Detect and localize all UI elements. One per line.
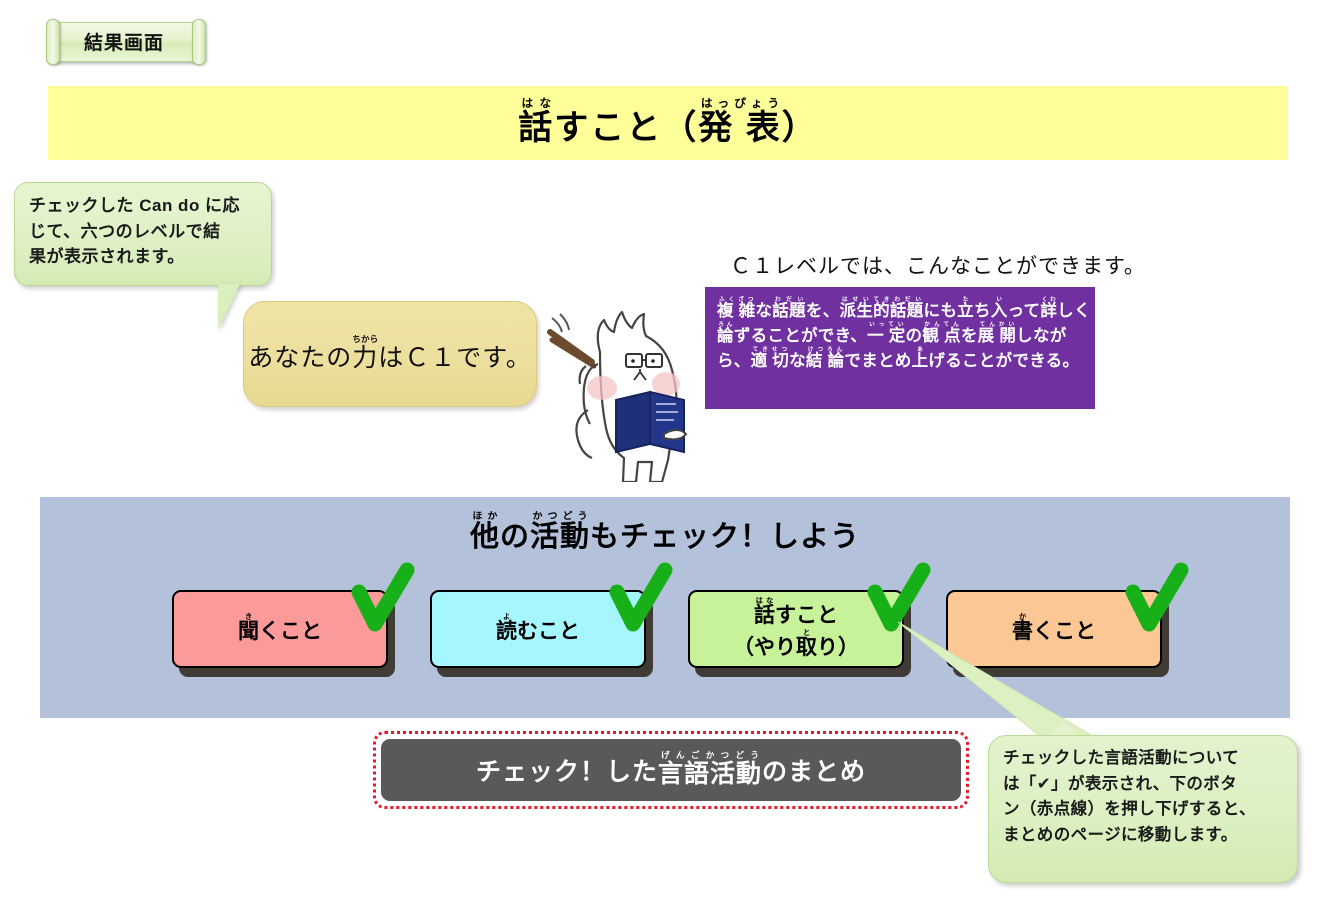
result-suffix: はＣ１です。 <box>378 344 532 372</box>
callout-line-1: チェックした Can do に応 <box>29 193 257 219</box>
cando-line-1: 複 雑ふくざつな話題わだいを、派生的話題はせいてきわだいにも立たち入いって詳くわ… <box>717 297 1083 322</box>
cando-caption: Ｃ１レベルでは、こんなことができます。 <box>730 250 1146 280</box>
cando-description-box: 複 雑ふくざつな話題わだいを、派生的話題はせいてきわだいにも立たち入いって詳くわ… <box>705 287 1095 409</box>
section-tab-result-screen: 結果画面 <box>44 22 204 62</box>
callout-br-line-1: チェックした言語活動について <box>1003 746 1283 772</box>
callout-tail-icon <box>218 284 240 330</box>
cat-blush-left-icon <box>587 376 617 400</box>
cat-blush-right-icon <box>652 372 680 396</box>
summary-suffix: のまとめ <box>762 752 866 788</box>
check-mark-icon-writing <box>1119 562 1193 642</box>
callout-result-levels-text: チェックした Can do に応 じて、六つのレベルで結 果が表示されます。 <box>29 193 257 270</box>
page-title-ruby-hana: 話はな <box>518 98 554 149</box>
summary-button-dotted-frame[interactable]: チェック！した言語活動げんごかつどうのまとめ <box>373 731 969 809</box>
cando-line-2: 論ろんずることができ、一 定いっていの観 点かんてんを展 開てんかいしなが <box>717 322 1083 347</box>
callout-summary-instructions: チェックした言語活動について は「✔」が表示され、下のボタ ン（赤点線）を押し下… <box>988 735 1298 883</box>
callout-br-line-3: ン（赤点線）を押し下げすると、 <box>1003 797 1283 823</box>
result-prefix: あなたの <box>248 344 352 372</box>
page-title-end: ） <box>782 100 818 149</box>
page-title-ruby-happyou: 発 表はっぴょう <box>698 98 781 149</box>
callout-result-levels: チェックした Can do に応 じて、六つのレベルで結 果が表示されます。 <box>14 182 272 286</box>
callout-line-2: じて、六つのレベルで結 <box>29 219 257 245</box>
cando-line-3: ら、適 切てきせつな結 論けつろんでまとめ上あげることができる。 <box>717 347 1083 372</box>
skill-button-reading-label: 読よむこと <box>496 613 580 645</box>
page-title-mid: すこと（ <box>554 100 698 149</box>
result-level-text: あなたの力ちからはＣ１です。 <box>248 334 532 374</box>
callout-summary-instructions-text: チェックした言語活動について は「✔」が表示され、下のボタ ン（赤点線）を押し下… <box>1003 746 1283 848</box>
skill-button-writing-label: 書かくこと <box>1012 613 1096 645</box>
heading-ruby-katsudou: 活動かつどう <box>530 521 590 553</box>
cat-tail-icon <box>576 410 592 458</box>
cat-paw-icon <box>664 430 686 439</box>
result-level-bubble: あなたの力ちからはＣ１です。 <box>243 301 537 407</box>
summary-prefix: チェック！した <box>476 752 658 788</box>
skill-button-speaking-interaction-label: 話はなすこと （やり取とり） <box>733 597 859 661</box>
heading-ruby-hoka: 他ほか <box>470 521 500 553</box>
page-title: 話はなすこと（発 表はっぴょう） <box>518 98 817 149</box>
check-mark-icon-reading <box>603 562 677 642</box>
skill-button-listening-label: 聞きくこと <box>238 613 322 645</box>
section-tab-label: 結果画面 <box>52 22 196 60</box>
check-mark-icon-listening <box>345 562 419 642</box>
callout-br-line-2: は「✔」が表示され、下のボタ <box>1003 772 1283 798</box>
other-activities-heading: 他ほかの活動かつどうもチェック！しよう <box>40 511 1290 555</box>
result-ruby-chikara: 力ちから <box>352 344 378 372</box>
summary-button[interactable]: チェック！した言語活動げんごかつどうのまとめ <box>381 739 961 801</box>
cat-teacher-svg <box>540 292 715 482</box>
pointer-stick-icon <box>550 314 594 366</box>
callout-line-3: 果が表示されます。 <box>29 244 257 270</box>
check-mark-icon-speaking-interaction <box>861 562 935 642</box>
page-title-band: 話はなすこと（発 表はっぴょう） <box>48 86 1288 160</box>
slide-canvas: 結果画面 話はなすこと（発 表はっぴょう） チェックした Can do に応 じ… <box>0 0 1333 901</box>
cat-book-icon <box>616 392 684 452</box>
summary-ruby-gengokatsudou: 言語活動げんごかつどう <box>658 750 762 790</box>
callout-br-line-4: まとめのページに移動します。 <box>1003 823 1283 849</box>
cat-teacher-illustration <box>540 292 715 482</box>
